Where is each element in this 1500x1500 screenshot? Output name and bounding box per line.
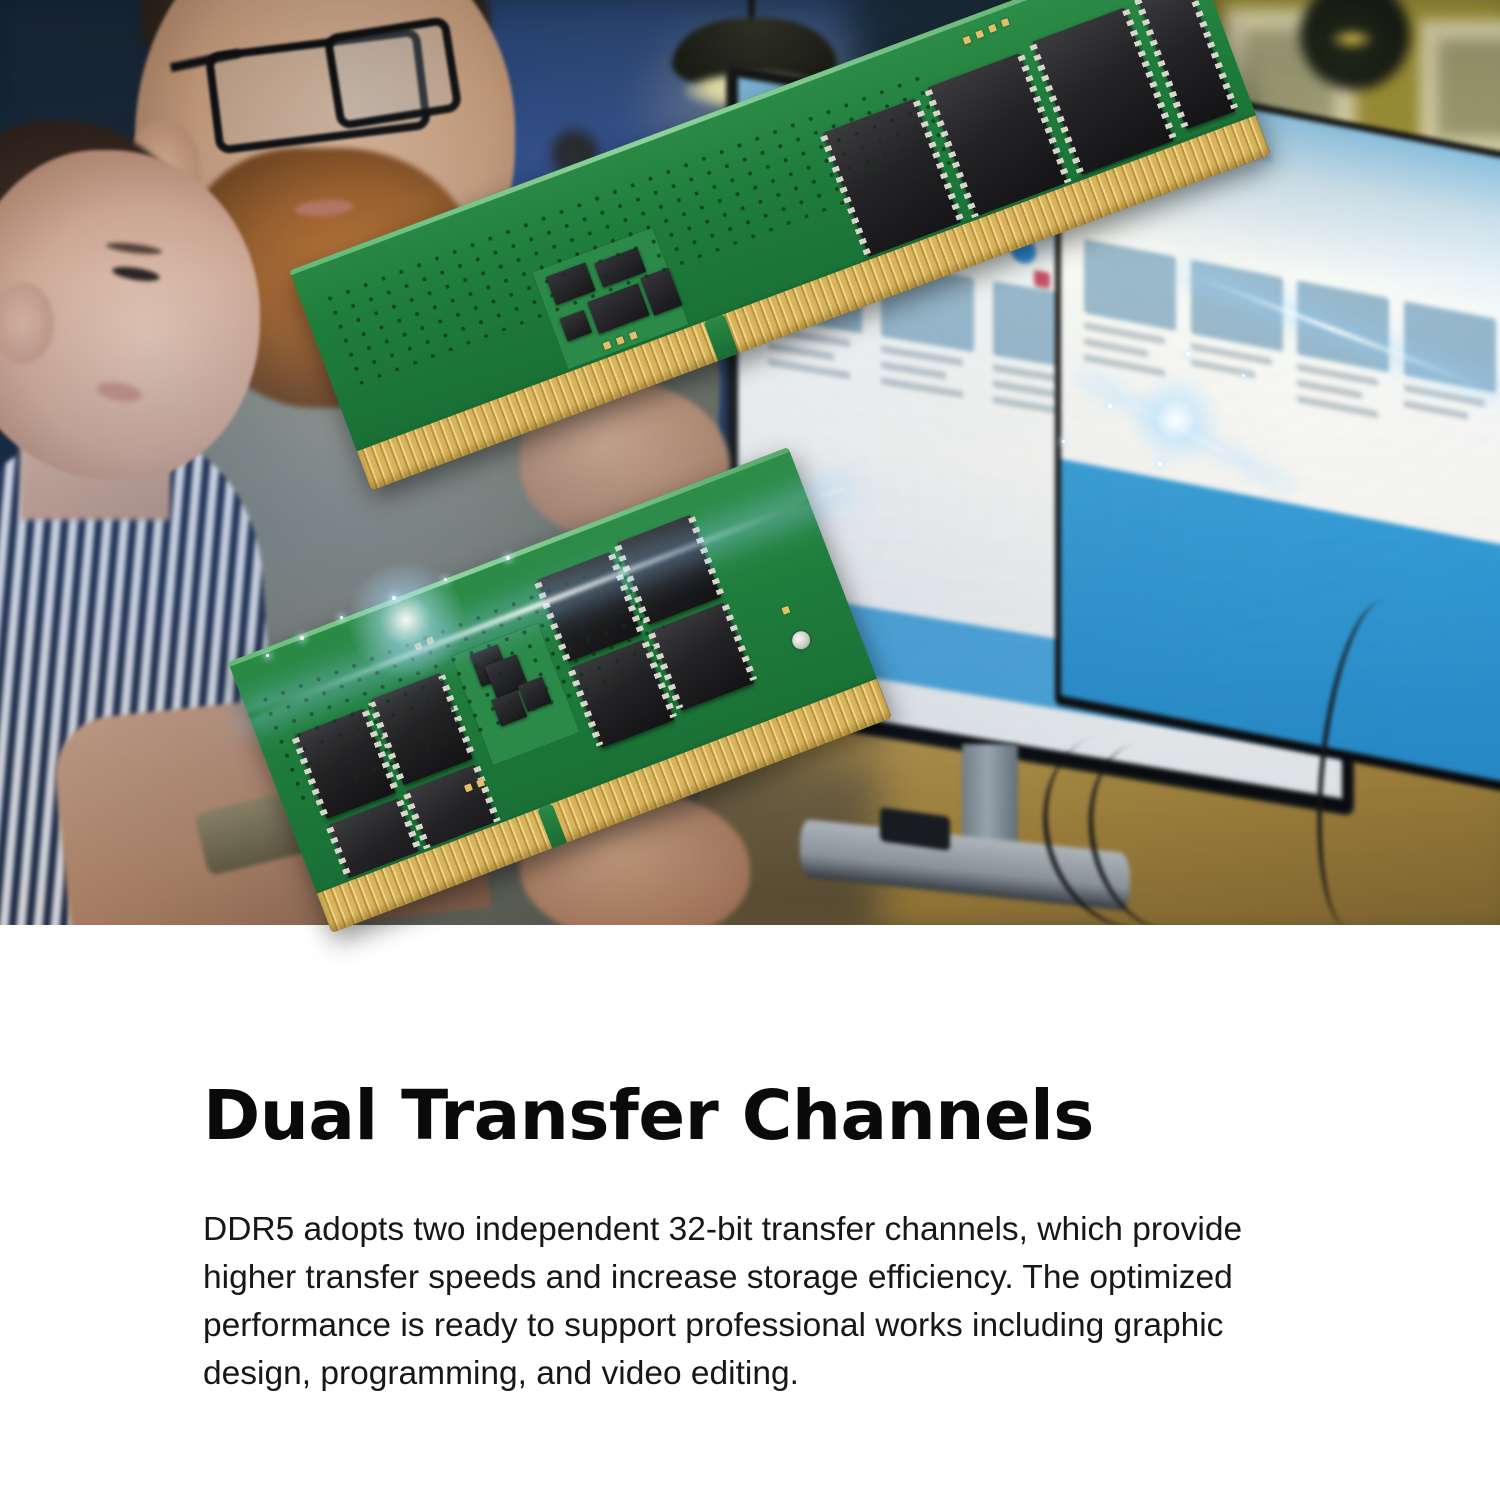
- glasses-lens-right: [323, 16, 462, 131]
- screen-card: [1297, 280, 1389, 420]
- screen-card-row: [1084, 239, 1496, 441]
- screen-card: [881, 263, 975, 401]
- screen-card: [1404, 301, 1496, 441]
- office-photo-background: [0, 0, 1500, 925]
- description-paragraph: DDR5 adopts two independent 32-bit trans…: [203, 1206, 1265, 1398]
- screen-header-bar: [774, 121, 1016, 173]
- screen-icon-blue: [1010, 235, 1036, 265]
- lamp-bulb-secondary: [1330, 28, 1374, 50]
- screen-card: [1191, 260, 1283, 400]
- screen-card: [768, 244, 862, 382]
- hero-image: [0, 0, 1500, 925]
- monitor-right: [1055, 64, 1500, 795]
- text-block: Dual Transfer Channels DDR5 adopts two i…: [203, 1078, 1293, 1398]
- screen-icon-red: [1034, 270, 1050, 289]
- monitor-right-screen: [1061, 72, 1500, 784]
- page-title: Dual Transfer Channels: [203, 1078, 1293, 1154]
- screen-header-bar: [1088, 115, 1271, 163]
- screen-icon-pale: [901, 223, 921, 260]
- screen-card: [1084, 239, 1176, 379]
